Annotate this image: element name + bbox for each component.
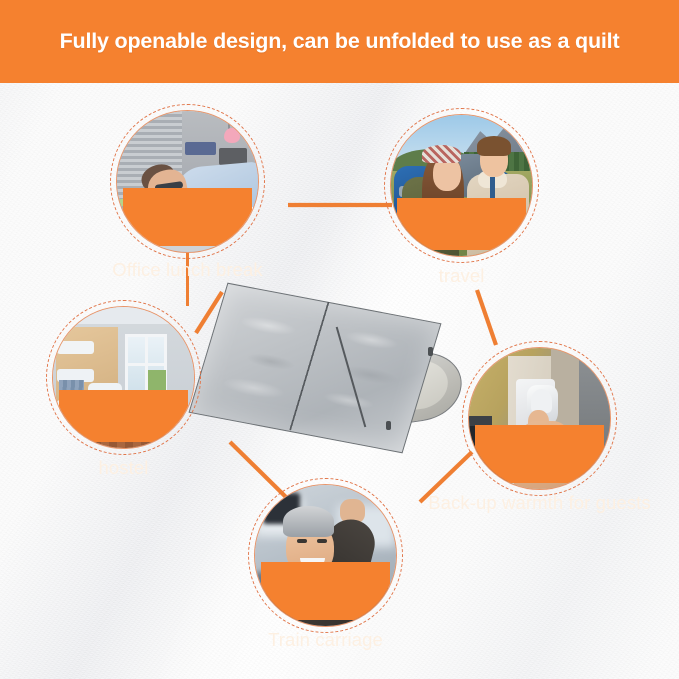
node-hostel[interactable]: hostel: [46, 300, 201, 455]
page-title: Fully openable design, can be unfolded t…: [34, 28, 646, 55]
photo-train-carriage: [254, 484, 397, 627]
node-label-office-lunch-break: Office lunch break: [68, 260, 307, 281]
node-label-train-carriage: Train carriage: [204, 630, 447, 651]
node-label-travel: travel: [342, 266, 581, 287]
photo-office-lunch-break: [116, 110, 259, 253]
scene-man-in-train-carriage: [255, 485, 396, 626]
scene-hand-pressing-doorbell: [469, 348, 610, 489]
photo-travel: [390, 114, 533, 257]
scene-hostel-bunk-room: [53, 307, 194, 448]
product-zipper-pull-bottom: [386, 421, 391, 430]
connector-travel-to-warmth: [477, 290, 496, 345]
node-label-hostel: hostel: [4, 458, 243, 479]
product-zipper-pull-top: [428, 347, 433, 356]
photo-hostel: [52, 306, 195, 449]
node-back-up-warmth[interactable]: Back-up warmth for guests: [462, 341, 617, 496]
product-image-sleeping-bag: [200, 295, 458, 445]
node-label-back-up-warmth: Back-up warmth for guests: [418, 493, 661, 514]
scene-couple-hiking: [391, 115, 532, 256]
infographic-page: Fully openable design, can be unfolded t…: [0, 0, 679, 679]
node-train-carriage[interactable]: Train carriage: [248, 478, 403, 633]
node-travel[interactable]: travel: [384, 108, 539, 263]
scene-man-sleeping-at-desk: [117, 111, 258, 252]
photo-back-up-warmth: [468, 347, 611, 490]
node-office-lunch-break[interactable]: Office lunch break: [110, 104, 265, 259]
header-banner: Fully openable design, can be unfolded t…: [0, 0, 679, 83]
product-center-seam: [189, 283, 439, 451]
